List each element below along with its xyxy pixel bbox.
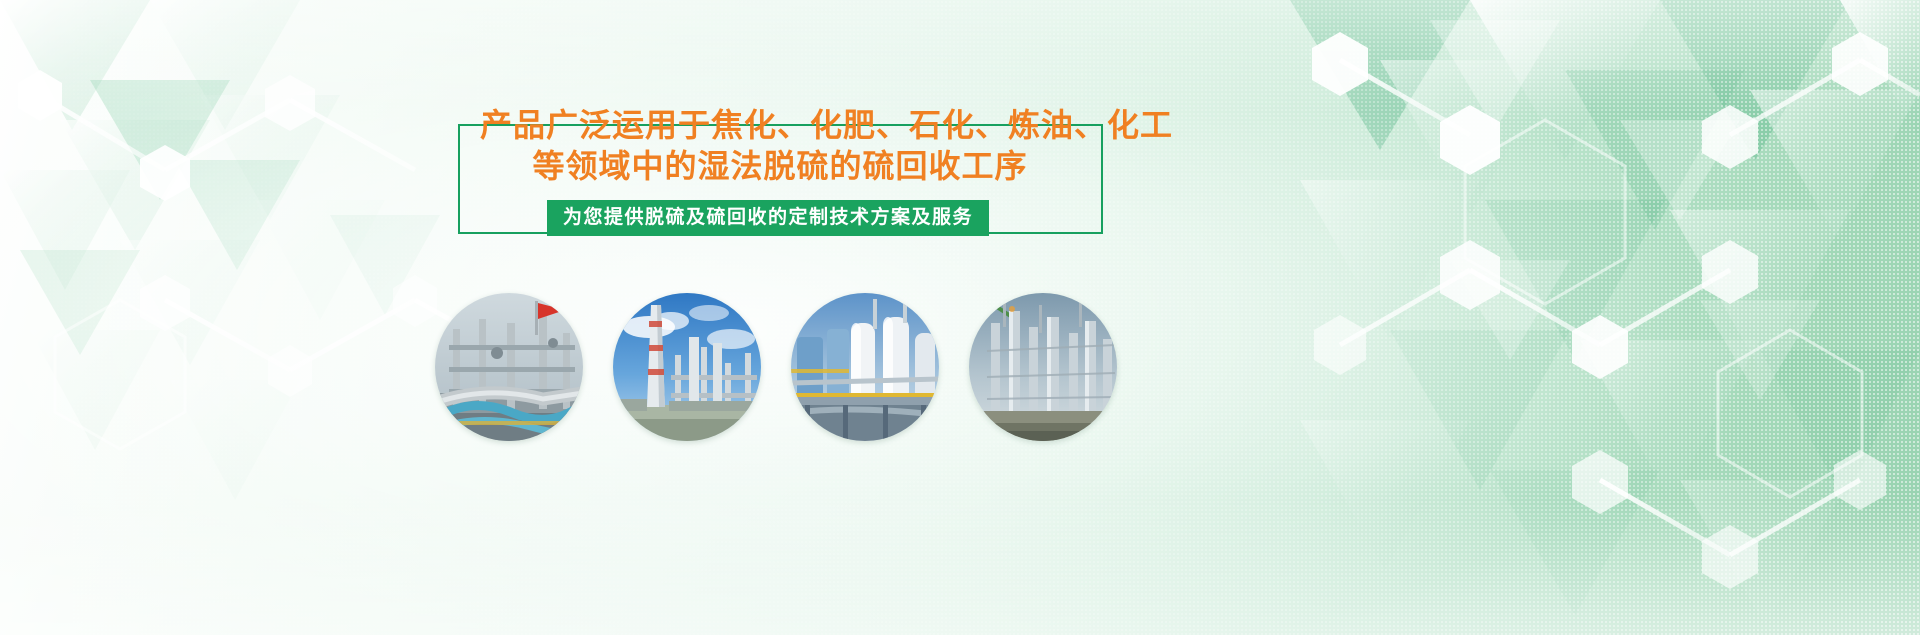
photo-circle-row: [0, 293, 1920, 441]
photo-sulfur-recovery-piping: [435, 293, 583, 441]
headline: 产品广泛运用于焦化、化肥、石化、炼油、化工 等领域中的湿法脱硫的硫回收工序: [480, 105, 1080, 187]
photo-refinery-towers: [969, 293, 1117, 441]
photo-4-artwork: [969, 293, 1117, 441]
headline-line-1: 产品广泛运用于焦化、化肥、石化、炼油、化工: [480, 105, 1080, 146]
subtitle-banner: 为您提供脱硫及硫回收的定制技术方案及服务: [547, 200, 989, 236]
headline-line-2: 等领域中的湿法脱硫的硫回收工序: [480, 146, 1080, 187]
photo-chimney-plant: [613, 293, 761, 441]
photo-3-artwork: [791, 293, 939, 441]
photo-chemical-tanks: [791, 293, 939, 441]
promo-banner: 产品广泛运用于焦化、化肥、石化、炼油、化工 等领域中的湿法脱硫的硫回收工序 为您…: [0, 0, 1920, 635]
photo-1-artwork: [435, 293, 583, 441]
photo-2-artwork: [613, 293, 761, 441]
